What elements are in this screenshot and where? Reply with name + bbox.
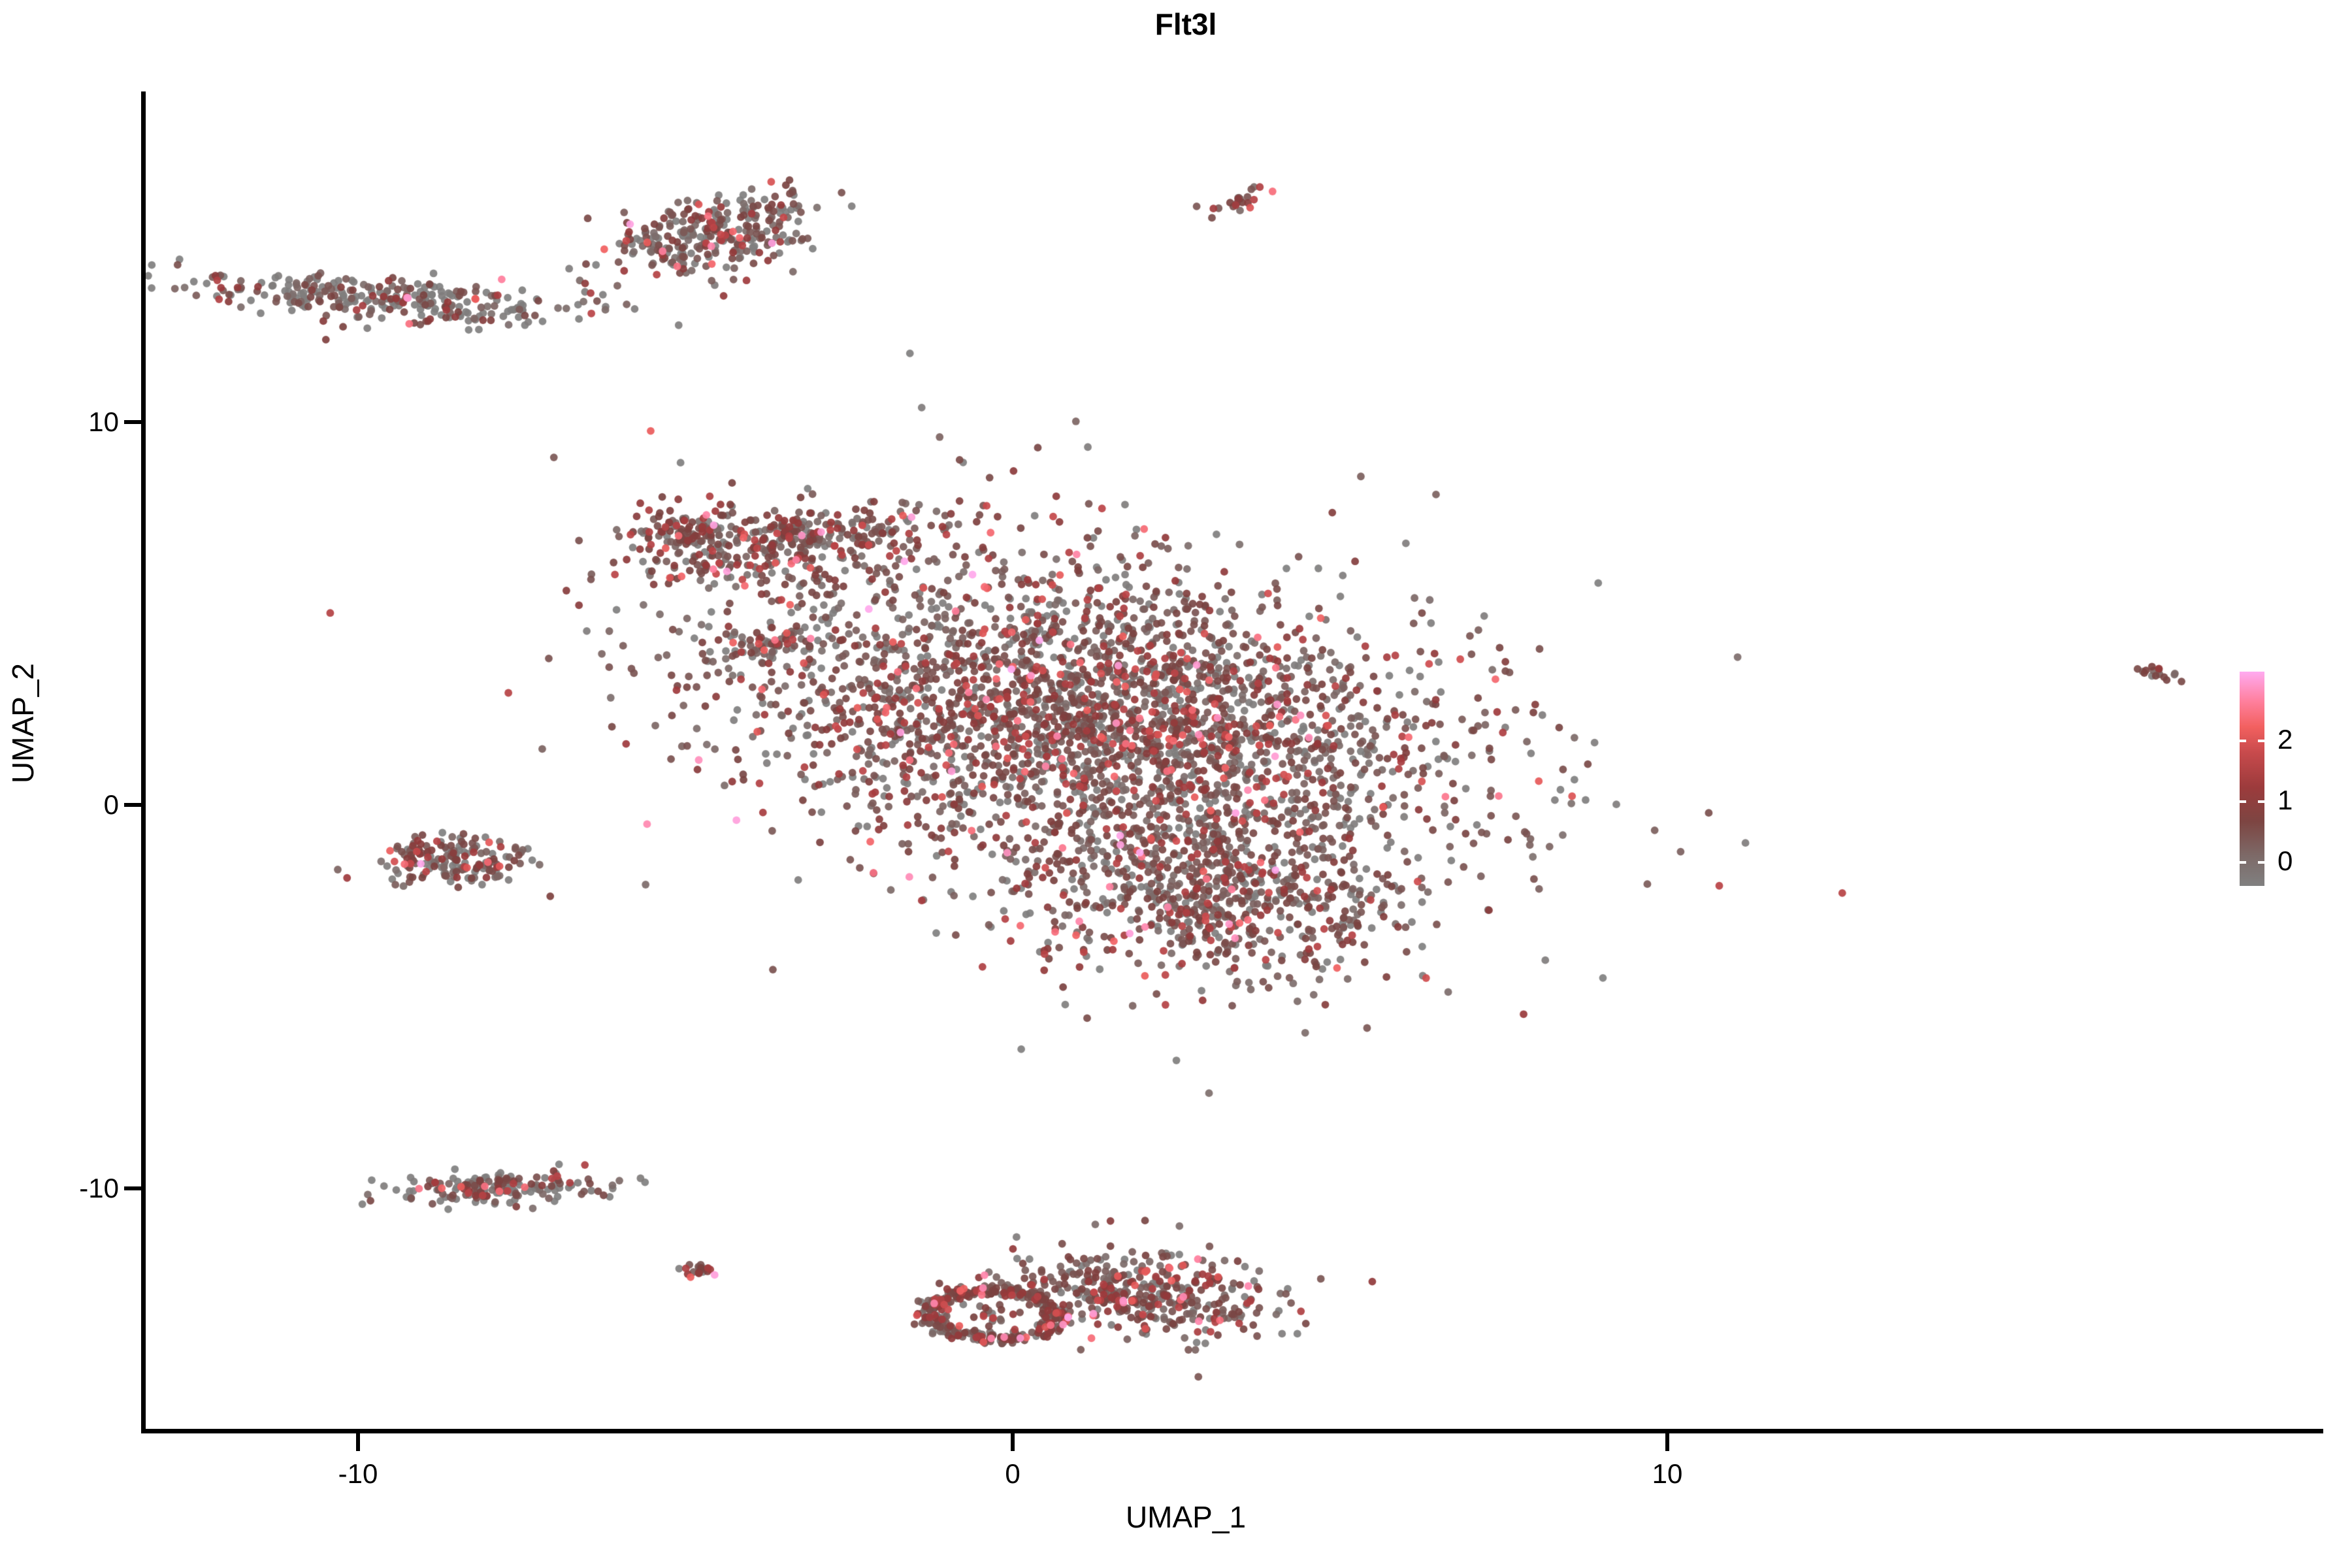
x-tick-mark [356,1433,360,1451]
colorbar-tick-0-left [2240,861,2246,864]
colorbar-tick-1-right [2258,800,2264,803]
colorbar-tick-2-right [2258,740,2264,742]
page-title: Flt3l [1155,7,1217,41]
y-tick-label: -10 [79,1173,119,1204]
y-tick-mark [124,803,142,807]
y-tick-label: 10 [88,406,119,438]
umap-feature-plot: Flt3l 100-10 -10010 UMAP_1 UMAP_2 2 1 0 [0,0,2352,1568]
colorbar-label-0: 0 [2278,845,2293,877]
x-axis-label: UMAP_1 [144,1499,2228,1535]
color-legend[interactable]: 2 1 0 [2240,672,2344,887]
y-tick-label: 0 [104,789,119,821]
y-axis-label: UMAP_2 [5,527,41,919]
plot-title-container: Flt3l [144,7,2228,42]
scatter-points-canvas [144,91,2228,1431]
colorbar-gradient [2240,672,2264,886]
colorbar-label-1: 1 [2278,785,2293,816]
x-tick-mark [1665,1433,1669,1451]
colorbar-tick-2-left [2240,740,2246,742]
x-axis-line [141,1429,2323,1433]
x-tick-label: 0 [1005,1458,1020,1490]
colorbar-label-2: 2 [2278,724,2293,755]
y-tick-mark [124,420,142,424]
y-tick-mark [124,1186,142,1190]
plot-panel [144,91,2228,1431]
colorbar-tick-0-right [2258,861,2264,864]
x-tick-label: 10 [1652,1458,1683,1490]
x-tick-label: -10 [338,1458,378,1490]
y-axis-line [141,91,146,1433]
colorbar-tick-1-left [2240,800,2246,803]
x-tick-mark [1011,1433,1015,1451]
